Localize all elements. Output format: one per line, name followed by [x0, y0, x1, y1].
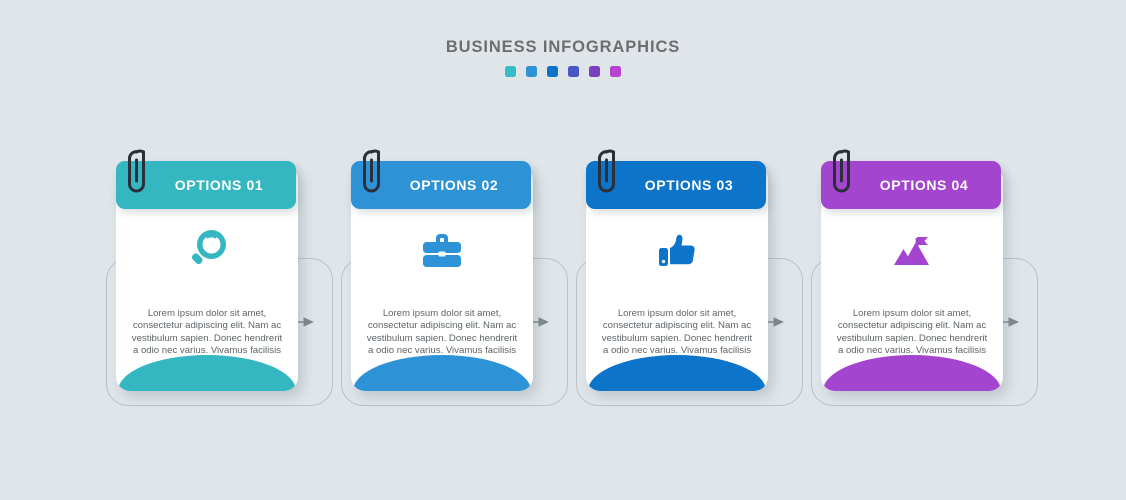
step-card-4[interactable]: Lorem ipsum dolor sit amet, consectetur …: [811, 145, 1047, 410]
mountain-flag-icon: [821, 224, 1003, 276]
paperclip-icon: [122, 148, 156, 202]
step-card-2[interactable]: Lorem ipsum dolor sit amet, consectetur …: [341, 145, 577, 410]
step-card-1[interactable]: Lorem ipsum dolor sit amet, consectetur …: [106, 145, 342, 410]
paperclip-icon: [592, 148, 626, 202]
steps-container: Lorem ipsum dolor sit amet, consectetur …: [0, 0, 1126, 500]
paperclip-icon: [827, 148, 861, 202]
briefcase-icon: [351, 224, 533, 276]
magnifier-icon: [116, 224, 298, 276]
step-card-3[interactable]: Lorem ipsum dolor sit amet, consectetur …: [576, 145, 812, 410]
thumbs-up-icon: [586, 224, 768, 276]
paperclip-icon: [357, 148, 391, 202]
